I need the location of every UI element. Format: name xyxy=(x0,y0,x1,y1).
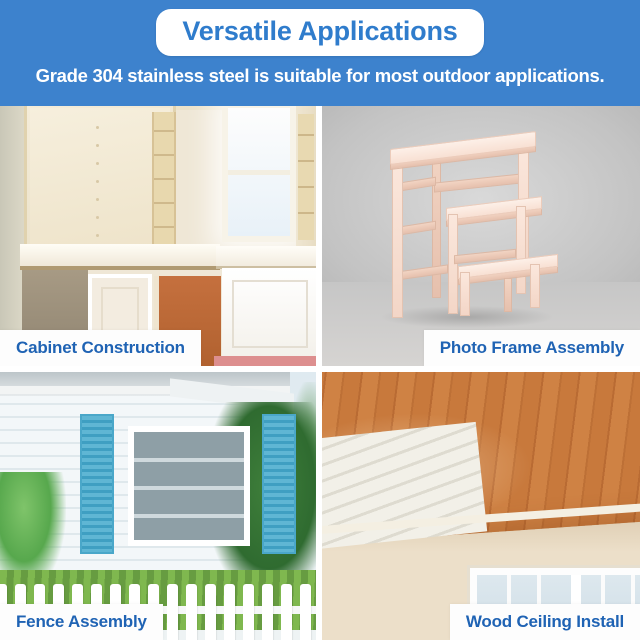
title-badge: Versatile Applications xyxy=(156,9,483,56)
tile-label-fence-assembly: Fence Assembly xyxy=(0,604,163,640)
fence-assembly-photo xyxy=(0,372,316,640)
wood-ceiling-install-photo xyxy=(322,372,640,640)
promo-banner: Versatile Applications Grade 304 stainle… xyxy=(0,0,640,640)
tile-wood-ceiling-install[interactable]: Wood Ceiling Install xyxy=(322,372,640,640)
tile-cabinet-construction[interactable]: Cabinet Construction xyxy=(0,106,316,366)
page-title: Versatile Applications xyxy=(182,16,457,47)
tile-label-cabinet-construction: Cabinet Construction xyxy=(0,330,201,366)
tile-label-wood-ceiling-install: Wood Ceiling Install xyxy=(450,604,640,640)
applications-grid: Cabinet Construction xyxy=(0,106,640,640)
tile-label-photo-frame-assembly: Photo Frame Assembly xyxy=(424,330,640,366)
photo-frame-assembly-photo xyxy=(322,106,640,366)
tile-photo-frame-assembly[interactable]: Photo Frame Assembly xyxy=(322,106,640,366)
cabinet-construction-photo xyxy=(0,106,316,366)
tile-fence-assembly[interactable]: Fence Assembly xyxy=(0,372,316,640)
banner-header: Versatile Applications Grade 304 stainle… xyxy=(0,0,640,106)
banner-subtitle: Grade 304 stainless steel is suitable fo… xyxy=(36,65,605,87)
